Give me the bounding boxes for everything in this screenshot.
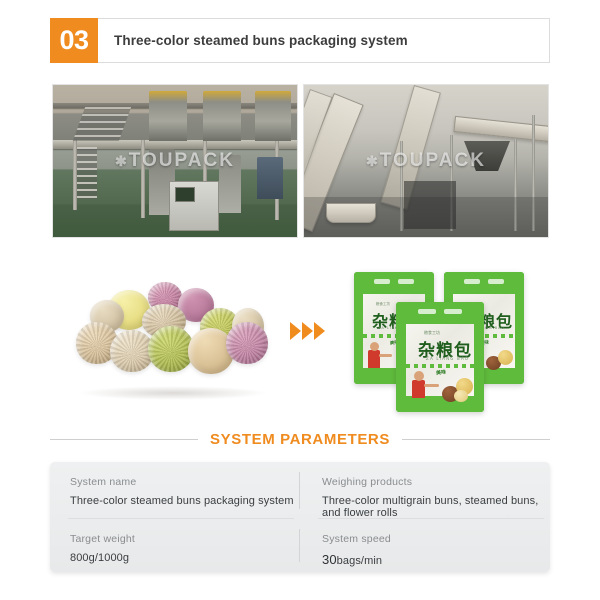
bag-hang-notch <box>464 279 480 284</box>
bag-top-seal <box>396 302 484 324</box>
photo-1-hmi-screen <box>175 187 195 202</box>
bag-character-body <box>368 350 380 368</box>
photo-1-operator <box>257 157 283 199</box>
bag-food-cream <box>454 390 468 402</box>
section-number-badge: 03 <box>50 18 98 63</box>
product-showcase: 粮食工坊 杂粮包 ZA LIANG BAO 美味 粮食工坊 杂粮包 ZA LIA… <box>52 256 549 416</box>
param-label: Target weight <box>70 533 300 545</box>
photo-1-weigher <box>255 91 291 141</box>
chevron-right-icon <box>314 322 325 340</box>
bag-side-gusset <box>474 302 484 412</box>
param-system-name: System name Three-color steamed buns pac… <box>50 462 300 519</box>
page-title: Three-color steamed buns packaging syste… <box>114 33 408 48</box>
machine-photo-2[interactable]: ✱TOUPACK <box>303 84 549 238</box>
system-parameters-panel: System name Three-color steamed buns pac… <box>50 462 550 572</box>
bag-side-gusset <box>396 302 406 412</box>
machine-photo-1[interactable]: ✱TOUPACK <box>52 84 298 238</box>
photo-2-infeed-tray <box>326 203 376 223</box>
bag-bottom-seal <box>396 396 484 412</box>
packaged-product-image: 粮食工坊 杂粮包 ZA LIANG BAO 美味 粮食工坊 杂粮包 ZA LIA… <box>348 260 548 412</box>
photo-gallery: ✱TOUPACK ✱TOUPACK <box>52 84 549 238</box>
photo-1-post <box>141 140 145 218</box>
bag-top-seal <box>444 272 524 294</box>
bag-flavor-badge: 美味 <box>436 368 447 376</box>
bag-hang-notch <box>418 309 436 314</box>
steamed-buns-image <box>60 264 288 412</box>
bag-brand-sub: ZA LIANG BAO <box>426 356 469 361</box>
bag-hang-notch <box>444 309 462 314</box>
param-label: System name <box>70 476 300 488</box>
bag-character-body <box>412 380 425 398</box>
param-value: Three-color multigrain buns, steamed bun… <box>322 495 550 519</box>
bag-hang-notch <box>374 279 390 284</box>
process-arrows <box>290 318 346 344</box>
param-value-number: 30 <box>322 552 337 567</box>
bag-character-arm <box>379 354 392 357</box>
system-parameters-title: SYSTEM PARAMETERS <box>210 431 390 448</box>
param-value: Three-color steamed buns packaging syste… <box>70 495 300 507</box>
bag-hang-notch <box>398 279 414 284</box>
bag-hang-notch <box>488 279 504 284</box>
section-header: 03 Three-color steamed buns packaging sy… <box>50 18 550 63</box>
param-value-unit: bags/min <box>337 555 382 567</box>
param-weighing-products: Weighing products Three-color multigrain… <box>300 462 550 519</box>
photo-1-weigher <box>149 91 187 141</box>
chevron-right-icon <box>302 322 313 340</box>
param-label: Weighing products <box>322 476 550 488</box>
param-value: 30bags/min <box>322 552 550 567</box>
bag-character-arm <box>424 384 439 387</box>
buns-drop-shadow <box>78 386 268 400</box>
bag-dot-strip <box>406 364 474 368</box>
bag-character-head <box>414 371 424 381</box>
bag-top-seal <box>354 272 434 294</box>
product-bag-front: 粮食工坊 杂粮包 ZA LIANG BAO 美味 <box>396 302 484 412</box>
param-value: 800g/1000g <box>70 552 300 564</box>
photo-1-bagger <box>219 155 241 213</box>
bag-side-gusset <box>354 272 363 384</box>
section-title-box: Three-color steamed buns packaging syste… <box>98 18 550 63</box>
bun-pink-pleated <box>226 322 268 364</box>
chevron-right-icon <box>290 322 301 340</box>
bag-top-tag: 粮食工坊 <box>376 302 390 307</box>
heading-rule-right <box>402 439 550 440</box>
param-target-weight: Target weight 800g/1000g <box>50 519 300 572</box>
heading-rule-left <box>50 439 198 440</box>
bag-character-head <box>370 342 379 351</box>
param-system-speed: System speed 30bags/min <box>300 519 550 572</box>
section-number: 03 <box>59 27 88 54</box>
param-label: System speed <box>322 533 550 545</box>
bag-side-gusset <box>515 272 524 384</box>
bag-food-yellow <box>498 350 513 365</box>
photo-1-ladder <box>77 147 97 199</box>
photo-1-weigher <box>203 91 241 141</box>
system-parameters-heading: SYSTEM PARAMETERS <box>50 428 550 450</box>
